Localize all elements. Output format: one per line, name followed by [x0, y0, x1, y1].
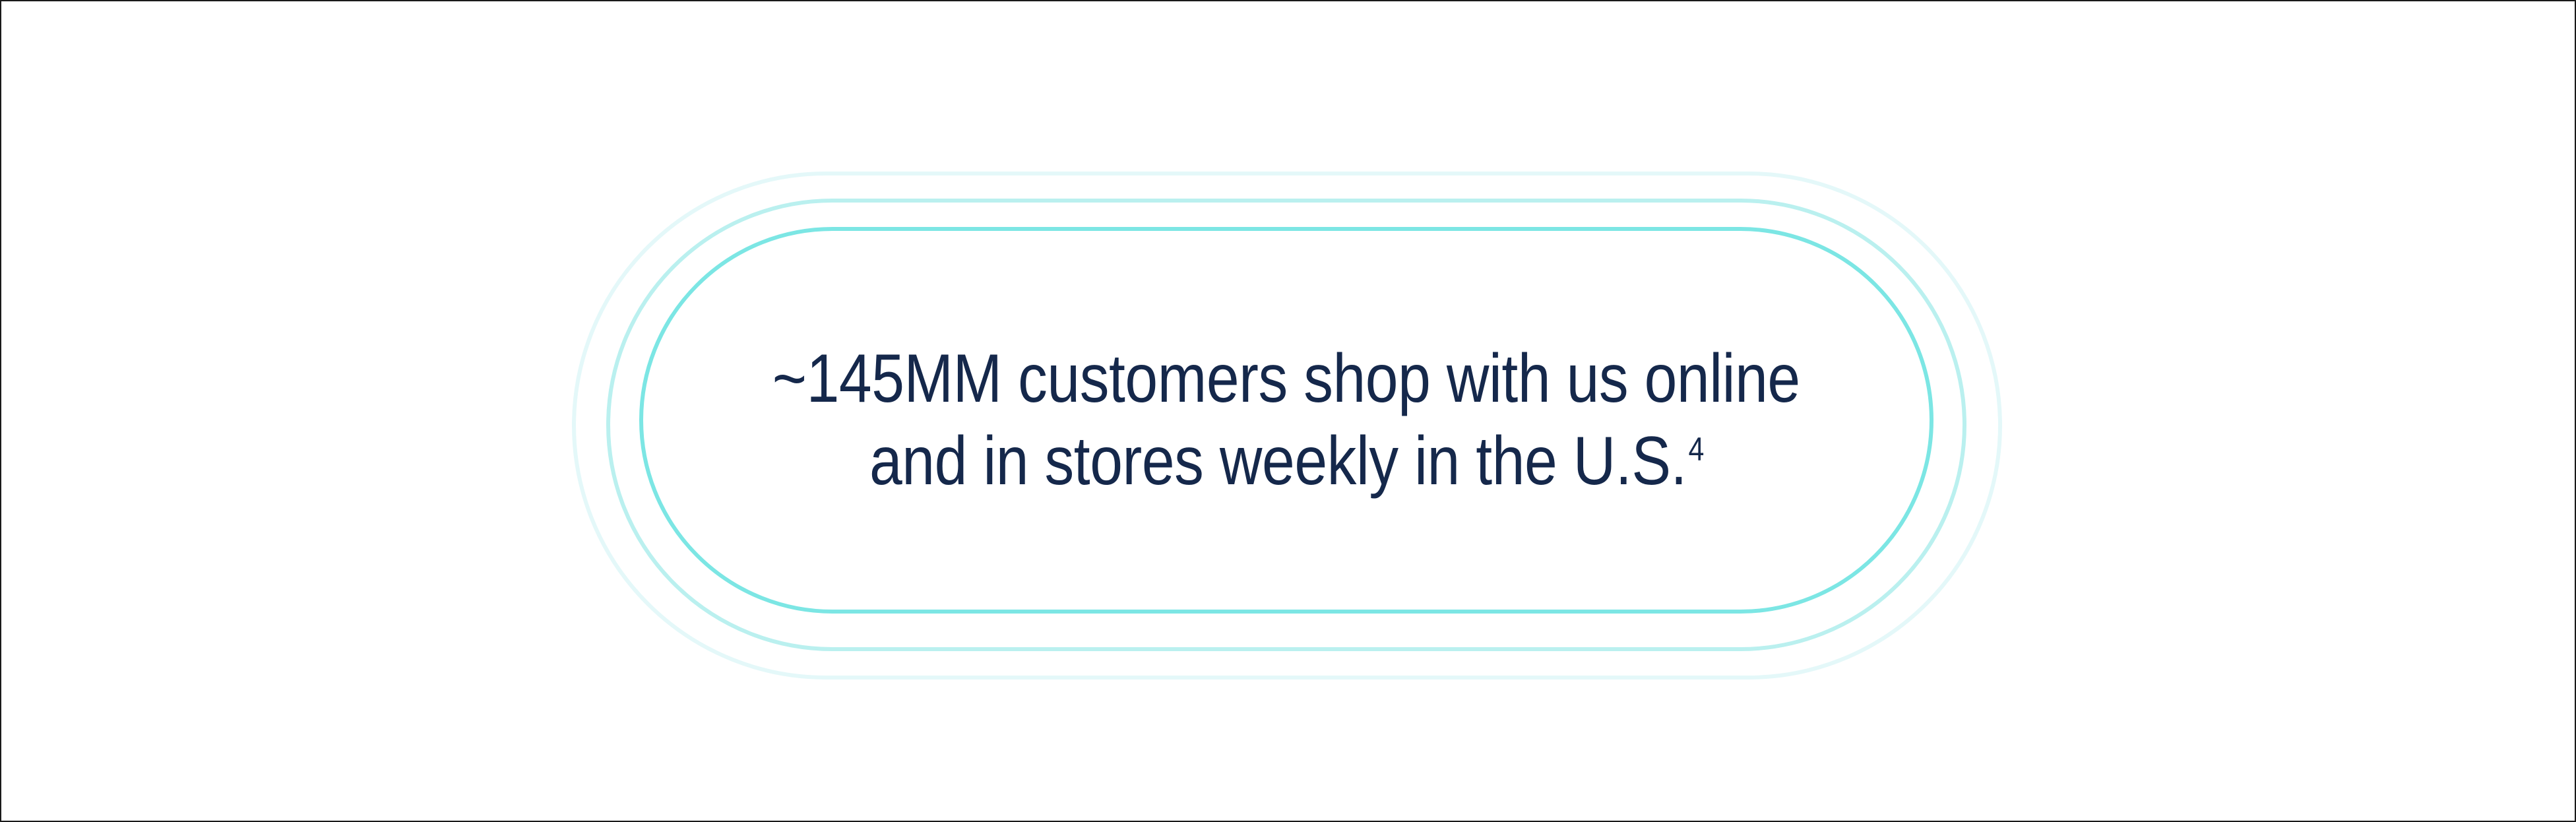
- stat-callout: ~145MM customers shop with us online and…: [639, 227, 1933, 614]
- stat-callout-line-2: and in stores weekly in the U.S.4: [869, 420, 1703, 503]
- stat-callout-line-1: ~145MM customers shop with us online: [772, 338, 1800, 420]
- slide-canvas: ~145MM customers shop with us online and…: [0, 0, 2576, 822]
- stat-callout-line-2-text: and in stores weekly in the U.S.: [869, 423, 1686, 499]
- footnote-marker: 4: [1688, 431, 1703, 468]
